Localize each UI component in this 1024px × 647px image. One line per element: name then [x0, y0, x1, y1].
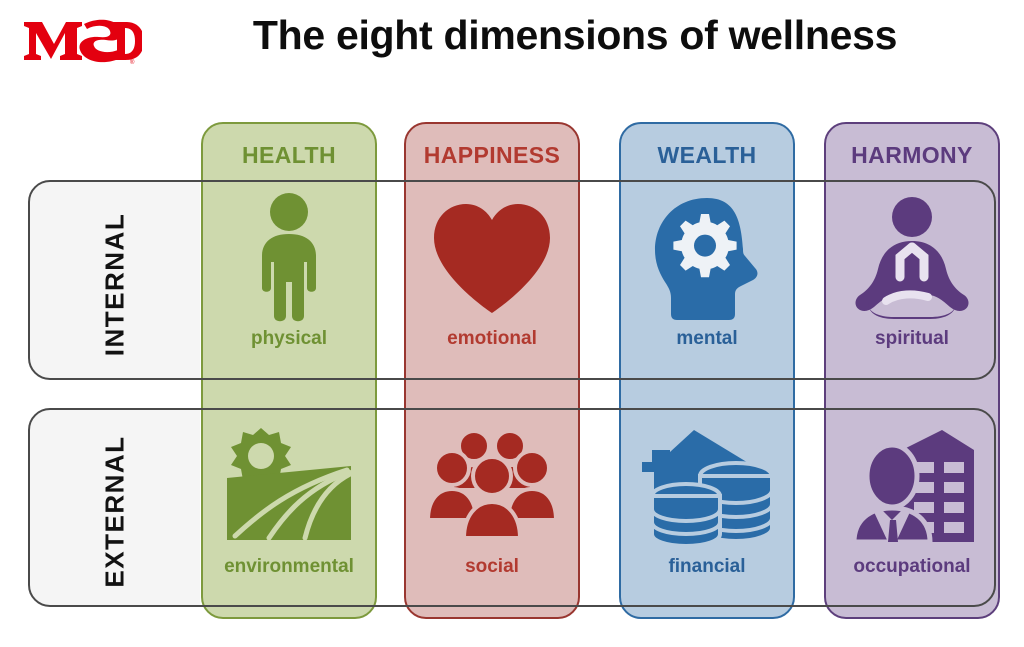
column-header-wealth: WEALTH [621, 124, 793, 186]
field-with-sun-icon [221, 416, 357, 556]
svg-text:®: ® [130, 59, 135, 66]
heart-icon [430, 188, 554, 328]
cell-label-spiritual: spiritual [875, 328, 949, 350]
cell-mental[interactable]: mental [619, 188, 795, 376]
cell-label-emotional: emotional [447, 328, 537, 350]
cell-social[interactable]: social [404, 416, 580, 604]
msd-logo: ® [22, 14, 142, 66]
cell-label-social: social [465, 556, 519, 578]
cell-environmental[interactable]: environmental [201, 416, 377, 604]
cell-financial[interactable]: financial [619, 416, 795, 604]
standing-person-icon [246, 188, 332, 328]
column-header-health: HEALTH [203, 124, 375, 186]
cell-label-occupational: occupational [853, 556, 970, 578]
head-with-gear-icon [647, 188, 767, 328]
row-label-external: EXTERNAL [100, 412, 131, 612]
cell-label-environmental: environmental [224, 556, 354, 578]
cell-emotional[interactable]: emotional [404, 188, 580, 376]
wellness-matrix: HEALTH HAPPINESS WEALTH HARMONY INTERNAL… [0, 96, 1024, 647]
row-label-internal: INTERNAL [100, 185, 131, 385]
cell-label-financial: financial [668, 556, 745, 578]
page-title: The eight dimensions of wellness [150, 12, 1000, 59]
column-header-happiness: HAPPINESS [406, 124, 578, 186]
cell-label-physical: physical [251, 328, 327, 350]
cell-physical[interactable]: physical [201, 188, 377, 376]
business-person-with-building-icon [846, 416, 978, 556]
group-of-people-icon [426, 416, 558, 556]
cell-harmony-spiritual[interactable]: spiritual [824, 188, 1000, 376]
house-with-coins-icon [640, 416, 774, 556]
header: ® The eight dimensions of wellness [0, 0, 1024, 96]
column-header-harmony: HARMONY [826, 124, 998, 186]
cell-label-mental: mental [676, 328, 737, 350]
cell-occupational[interactable]: occupational [824, 416, 1000, 604]
meditating-person-icon [850, 188, 974, 328]
